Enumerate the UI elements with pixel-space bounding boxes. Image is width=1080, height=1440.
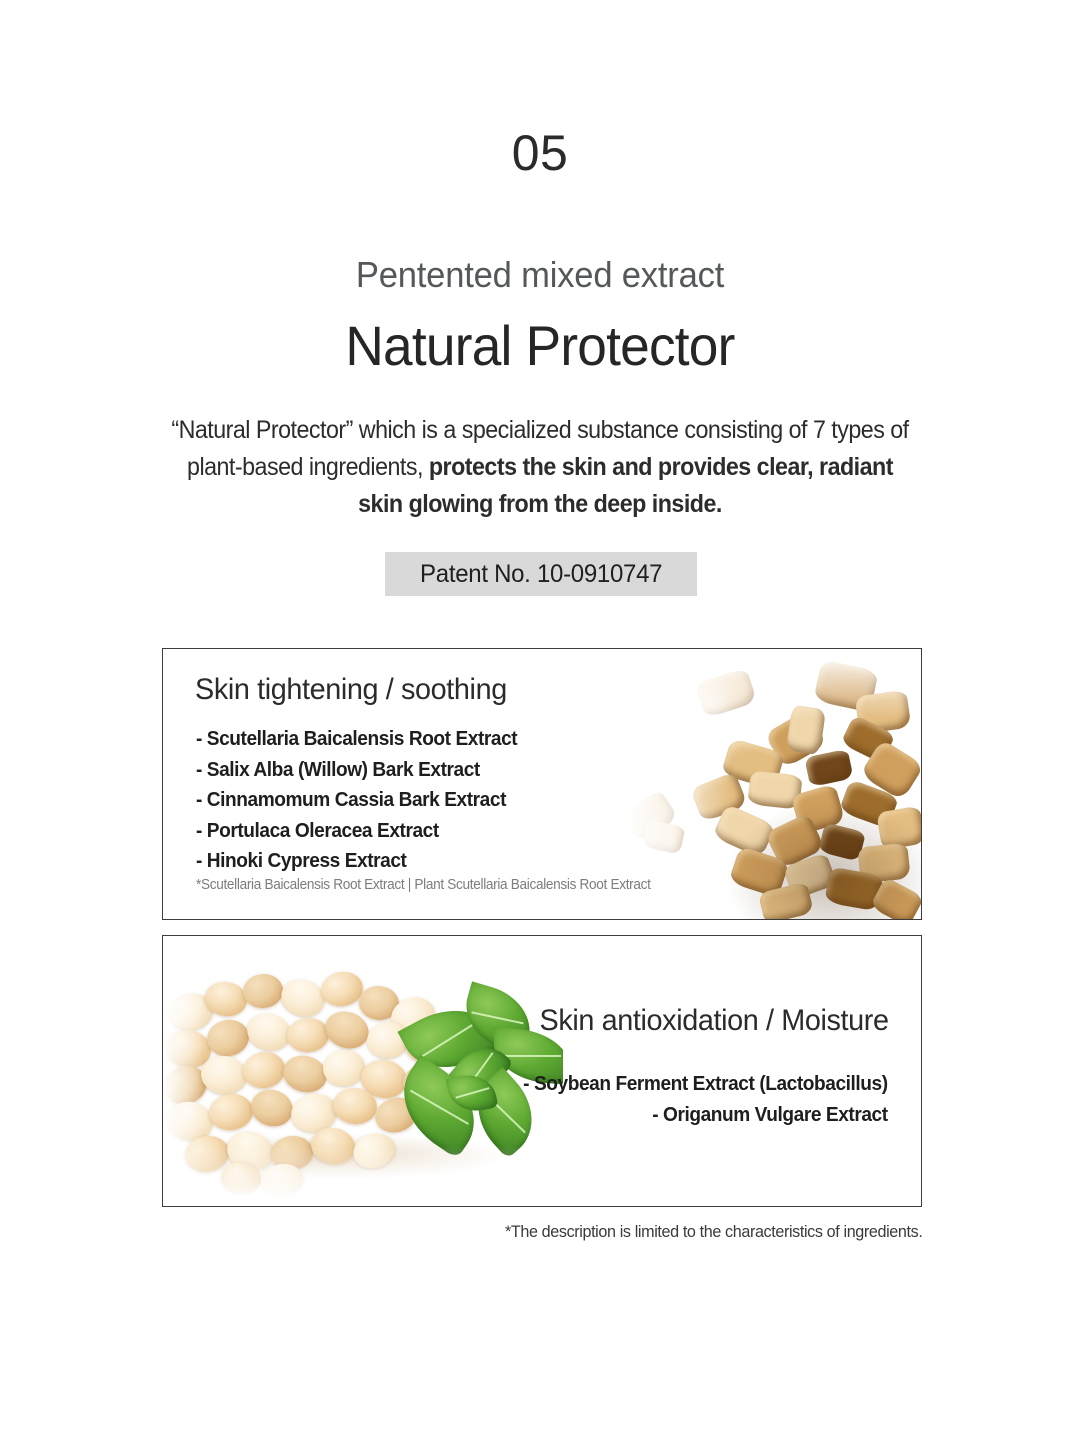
list-item: - Hinoki Cypress Extract [196, 846, 517, 877]
list-item: - Soybean Ferment Extract (Lactobacillus… [524, 1069, 888, 1100]
disclaimer-note: *The description is limited to the chara… [0, 1222, 922, 1242]
description-bold-text: protects the skin and provides clear, ra… [358, 453, 893, 518]
ingredient-box-tightening: Skin tightening / soothing - Scutellaria… [162, 648, 922, 920]
ingredient-box-antioxidation: Skin antioxidation / Moisture - Soybean … [162, 935, 922, 1207]
list-item: - Salix Alba (Willow) Bark Extract [196, 755, 517, 786]
patent-number-label: Patent No. 10-0910747 [420, 560, 662, 589]
ingredient-list-antioxidation: - Soybean Ferment Extract (Lactobacillus… [506, 1069, 888, 1130]
product-ingredient-page: 05 Pentented mixed extract Natural Prote… [0, 0, 1080, 1440]
soybeans-oregano-photo [163, 956, 563, 1206]
page-subtitle: Pentented mixed extract [22, 254, 1059, 296]
description-paragraph: “Natural Protector” which is a specializ… [168, 412, 912, 523]
list-item: - Origanum Vulgare Extract [524, 1100, 888, 1131]
step-number: 05 [0, 124, 1080, 182]
page-title: Natural Protector [27, 313, 1053, 378]
box-heading-antioxidation: Skin antioxidation / Moisture [540, 1004, 889, 1038]
ingredient-list-tightening: - Scutellaria Baicalensis Root Extract -… [196, 724, 532, 877]
box-heading-tightening: Skin tightening / soothing [195, 673, 507, 707]
box-footnote-tightening: *Scutellaria Baicalensis Root Extract | … [196, 877, 651, 893]
list-item: - Portulaca Oleracea Extract [196, 816, 517, 847]
list-item: - Cinnamomum Cassia Bark Extract [196, 785, 517, 816]
patent-badge: Patent No. 10-0910747 [385, 552, 697, 596]
dried-root-bark-chips-photo [621, 649, 921, 919]
list-item: - Scutellaria Baicalensis Root Extract [196, 724, 517, 755]
disclaimer-text: *The description is limited to the chara… [505, 1222, 922, 1242]
